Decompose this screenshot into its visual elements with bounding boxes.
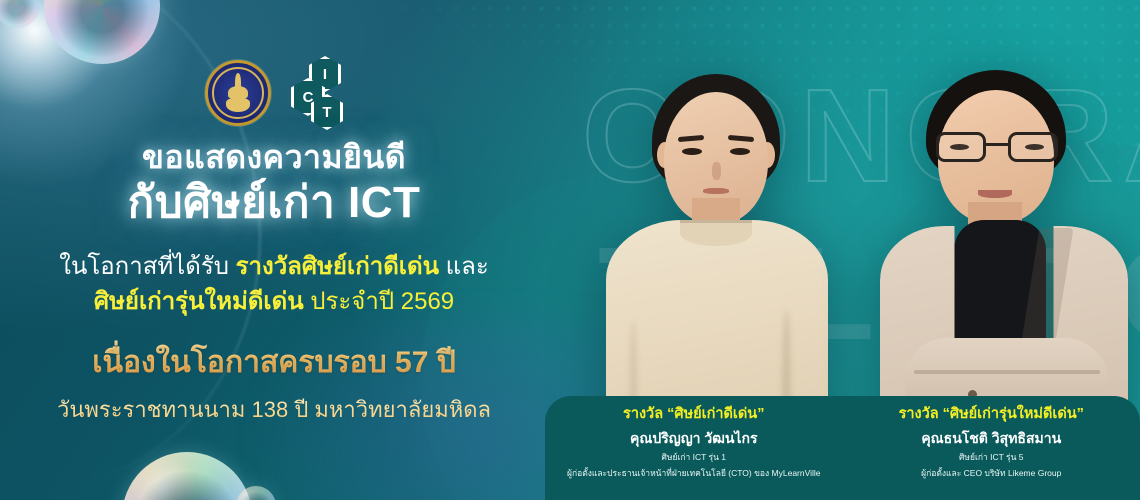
subheadline-award-2: ศิษย์เก่ารุ่นใหม่ดีเด่น xyxy=(94,288,304,315)
eyeglasses xyxy=(936,132,1058,162)
eye-left xyxy=(682,148,702,155)
subheadline-year: ประจำปี 2569 xyxy=(304,288,455,315)
mouth xyxy=(703,188,729,194)
blazer-lapel xyxy=(1020,228,1073,348)
ear-right xyxy=(760,142,775,168)
awardee-name: คุณธนโชติ วิสุทธิสมาน xyxy=(849,430,1135,447)
neck xyxy=(692,198,740,242)
nose xyxy=(712,162,721,180)
soap-bubble-icon xyxy=(122,452,252,500)
ear-left xyxy=(657,142,672,168)
awardee-role: ผู้ก่อตั้งและประธานเจ้าหน้าที่ฝ่ายเทคโนโ… xyxy=(551,467,837,479)
awardee-caption-left: รางวัล “ศิษย์เก่าดีเด่น” คุณปริญญา วัฒนไ… xyxy=(545,396,843,500)
anniversary-line-1: เนื่องในโอกาสครบรอบ 57 ปี xyxy=(0,339,548,386)
lens-left xyxy=(936,132,986,162)
mahidol-seal-icon xyxy=(205,60,271,126)
awardee-batch: ศิษย์เก่า ICT รุ่น 5 xyxy=(849,451,1135,463)
awardee-caption-right: รางวัล “ศิษย์เก่ารุ่นใหม่ดีเด่น” คุณธนโช… xyxy=(843,396,1140,500)
arm-seam xyxy=(914,370,1100,374)
lens-right xyxy=(1008,132,1058,162)
glasses-bridge xyxy=(986,143,1008,146)
congratulations-banner: CONGRA TULATIONS xyxy=(0,0,1140,500)
soap-bubble-icon xyxy=(236,486,276,500)
headline-line-1: ขอแสดงความยินดี xyxy=(0,140,548,176)
watermark-congra: CONGRA xyxy=(582,70,1140,202)
eye-right xyxy=(730,148,750,155)
subheadline-award-1: รางวัลศิษย์เก่าดีเด่น xyxy=(236,253,439,280)
subheadline: ในโอกาสที่ได้รับ รางวัลศิษย์เก่าดีเด่น แ… xyxy=(0,250,548,318)
ict-logo-icon: I C T xyxy=(289,58,347,128)
eyebrow-left xyxy=(678,135,704,142)
hair xyxy=(652,74,780,192)
face xyxy=(664,92,768,224)
eyebrow-right xyxy=(728,135,754,142)
awardee-caption-panel: รางวัล “ศิษย์เก่าดีเด่น” คุณปริญญา วัฒนไ… xyxy=(545,396,1140,500)
award-title: รางวัล “ศิษย์เก่ารุ่นใหม่ดีเด่น” xyxy=(849,405,1135,423)
subheadline-line-1: ในโอกาสที่ได้รับ รางวัลศิษย์เก่าดีเด่น แ… xyxy=(0,250,548,284)
soap-bubble-icon xyxy=(0,0,40,28)
award-title: รางวัล “ศิษย์เก่าดีเด่น” xyxy=(551,405,837,423)
headline-line-2: กับศิษย์เก่า ICT xyxy=(0,178,548,229)
awardee-name: คุณปริญญา วัฒนไกร xyxy=(551,430,837,447)
subheadline-prefix: ในโอกาสที่ได้รับ xyxy=(59,253,235,280)
soap-bubble-icon xyxy=(44,0,160,64)
collar xyxy=(680,220,752,246)
anniversary-line-2: วันพระราชทานนาม 138 ปี มหาวิทยาลัยมหิดล xyxy=(0,392,548,427)
awardee-role: ผู้ก่อตั้งและ CEO บริษัท Likeme Group xyxy=(849,467,1135,479)
copy-block: ขอแสดงความยินดี กับศิษย์เก่า ICT ในโอกาส… xyxy=(0,140,548,427)
face xyxy=(938,90,1054,224)
logo-row: I C T xyxy=(205,58,347,128)
subheadline-line-2: ศิษย์เก่ารุ่นใหม่ดีเด่น ประจำปี 2569 xyxy=(0,285,548,319)
subheadline-conjunction: และ xyxy=(439,253,489,280)
eye-left xyxy=(950,144,969,150)
eye-right xyxy=(1025,144,1044,150)
awardee-batch: ศิษย์เก่า ICT รุ่น 1 xyxy=(551,451,837,463)
watermark-tulations: TULATIONS xyxy=(598,228,1140,360)
hair xyxy=(926,70,1066,182)
mouth xyxy=(978,190,1012,198)
neck xyxy=(968,202,1022,242)
seal-crest xyxy=(225,73,251,113)
